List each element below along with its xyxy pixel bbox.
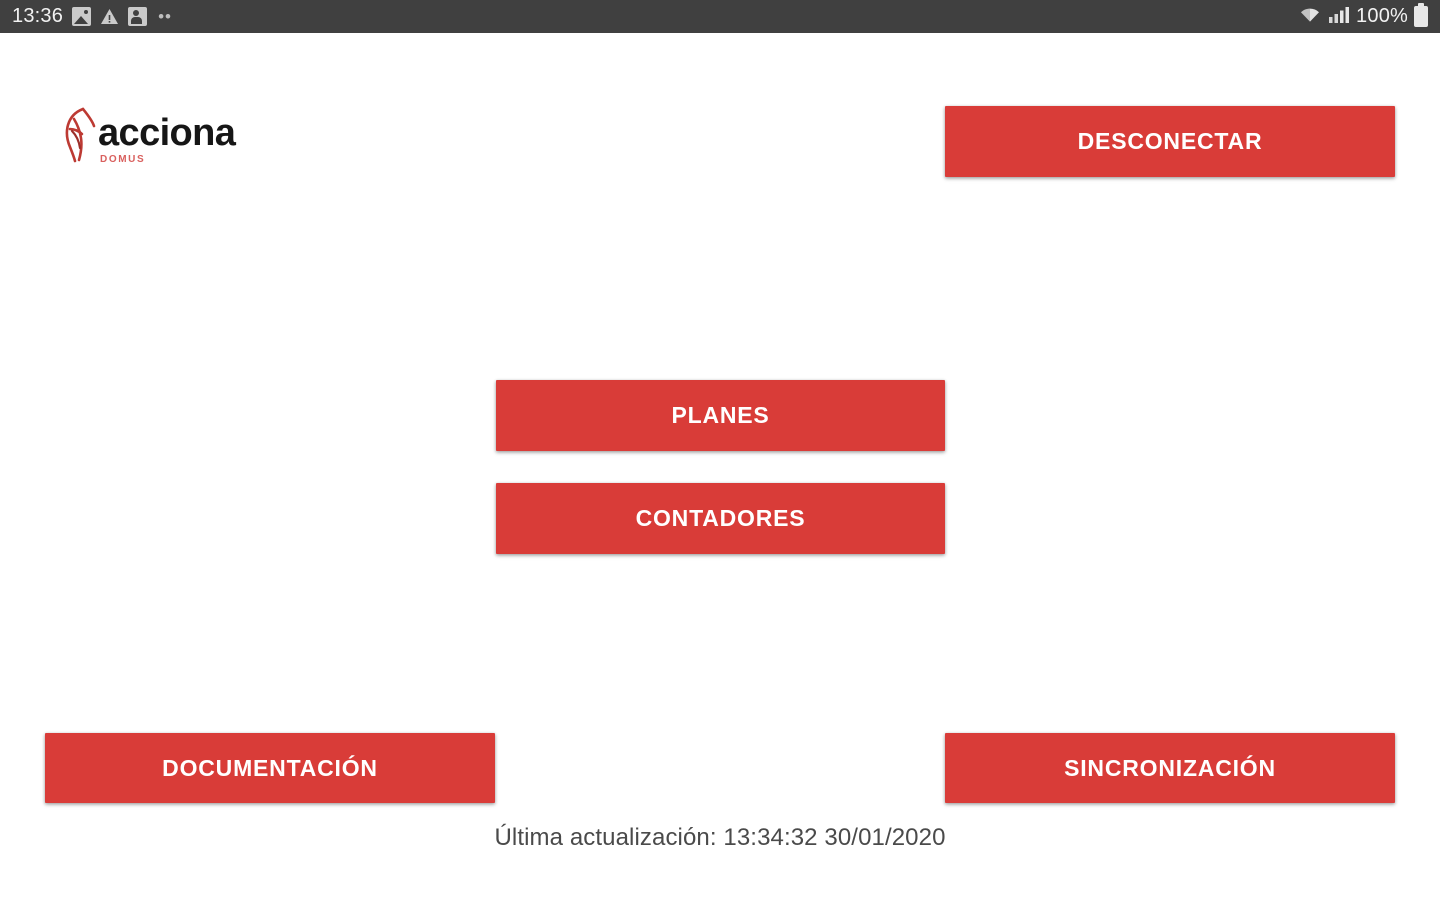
brand-name: acciona xyxy=(98,114,235,152)
documentation-button[interactable]: DOCUMENTACIÓN xyxy=(45,733,495,803)
status-clock: 13:36 xyxy=(12,5,63,28)
battery-icon xyxy=(1414,6,1428,27)
status-bar-right: 100% xyxy=(1298,5,1428,29)
status-overflow-icon: •• xyxy=(158,12,172,22)
disconnect-button[interactable]: DESCONECTAR xyxy=(945,106,1395,177)
brand-text: acciona DOMUS xyxy=(98,105,235,166)
photo-icon xyxy=(72,7,91,26)
plans-button[interactable]: PLANES xyxy=(496,380,945,451)
synchronization-button[interactable]: SINCRONIZACIÓN xyxy=(945,733,1395,803)
brand-division-label: DOMUS xyxy=(100,154,235,166)
app-icon xyxy=(128,7,147,26)
brand-logo: acciona DOMUS xyxy=(60,105,235,167)
status-bar-left: 13:36 •• xyxy=(12,5,172,28)
acciona-mark-icon xyxy=(60,105,100,163)
counters-button[interactable]: CONTADORES xyxy=(496,483,945,554)
last-update-label: Última actualización: 13:34:32 30/01/202… xyxy=(0,824,1440,852)
signal-icon xyxy=(1328,5,1350,29)
wifi-icon xyxy=(1298,5,1322,29)
battery-percent-label: 100% xyxy=(1356,5,1408,28)
warning-icon xyxy=(100,7,119,26)
status-bar: 13:36 •• 100% xyxy=(0,0,1440,33)
